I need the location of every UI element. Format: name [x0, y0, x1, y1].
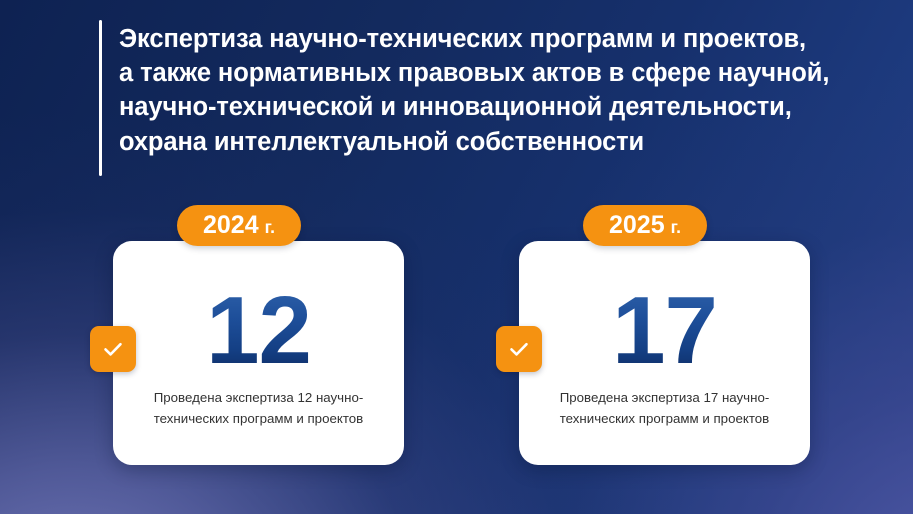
page-title: Экспертиза научно-технических программ и…	[119, 20, 829, 176]
card-value: 12	[113, 283, 404, 379]
card-surface: 12 Проведена экспертиза 12 научно-технич…	[113, 241, 404, 465]
check-icon	[506, 336, 532, 362]
card-surface: 17 Проведена экспертиза 17 научно-технич…	[519, 241, 810, 465]
year-badge-label: 2025	[609, 211, 665, 240]
infographic-slide: Экспертиза научно-технических программ и…	[0, 0, 913, 514]
year-badge-label: 2024	[203, 211, 259, 240]
card-description: Проведена экспертиза 17 научно-техническ…	[533, 387, 796, 429]
card-value: 17	[519, 283, 810, 379]
title-accent-bar	[99, 20, 102, 176]
year-badge-suffix: г.	[671, 217, 681, 238]
year-badge[interactable]: 2025 г.	[583, 205, 707, 246]
check-icon	[100, 336, 126, 362]
year-badge-suffix: г.	[265, 217, 275, 238]
year-badge[interactable]: 2024 г.	[177, 205, 301, 246]
check-badge	[496, 326, 542, 372]
check-badge	[90, 326, 136, 372]
card-description: Проведена экспертиза 12 научно-техническ…	[127, 387, 390, 429]
title-block: Экспертиза научно-технических программ и…	[99, 20, 839, 176]
